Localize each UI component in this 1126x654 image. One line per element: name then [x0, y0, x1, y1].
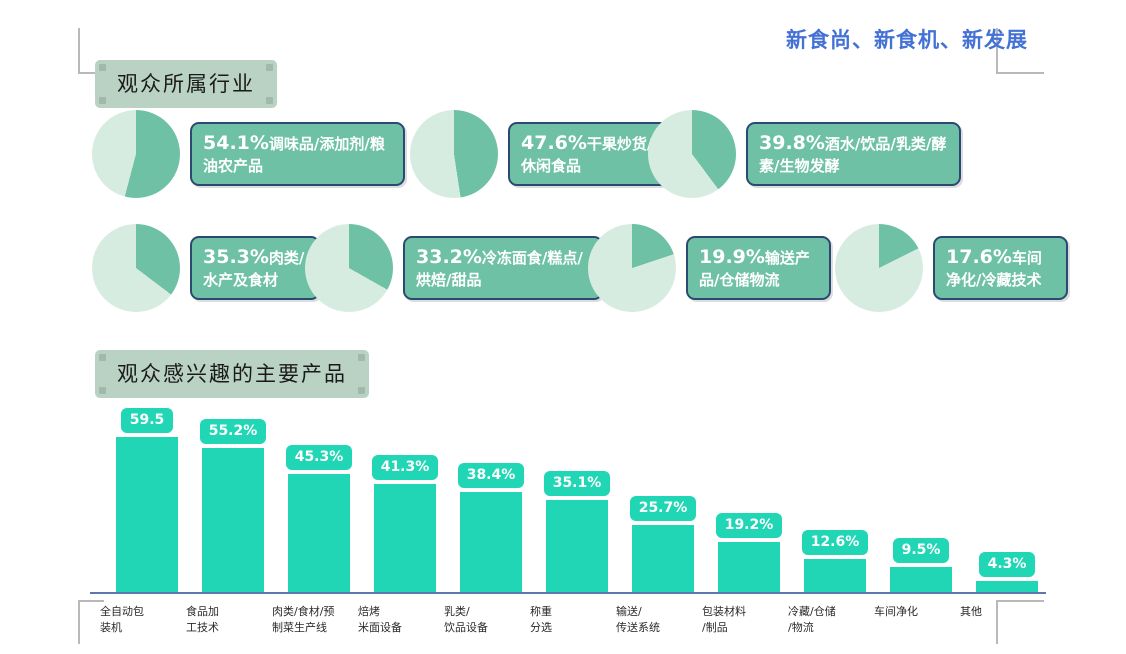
x-axis-label: 焙烤米面设备: [358, 604, 454, 636]
bar: [976, 581, 1038, 592]
pie-chart-4: [92, 224, 180, 312]
slide-canvas: 新食尚、新食机、新发展 观众所属行业 54.1%调味品/添加剂/粮油农产品47.…: [0, 0, 1126, 654]
pie-row-1: 54.1%调味品/添加剂/粮油农产品47.6%干果炒货/休闲食品39.8%酒水/…: [0, 110, 1126, 210]
bar-value-label: 55.2%: [200, 419, 267, 444]
pie-chart-6: [588, 224, 676, 312]
bar: [460, 492, 522, 592]
page-title: 新食尚、新食机、新发展: [786, 24, 1028, 54]
pie-percent-value: 19.9%: [699, 246, 765, 268]
x-axis-label: 包装材料/制品: [702, 604, 798, 636]
bar-column: 38.4%: [448, 463, 534, 592]
header-nub: [358, 354, 365, 361]
pie-chart-7: [835, 224, 923, 312]
x-axis-label: 冷藏/仓储/物流: [788, 604, 884, 636]
pie-item: 33.2%冷冻面食/糕点/烘焙/甜品: [305, 224, 603, 312]
bar-value-label: 45.3%: [286, 445, 353, 470]
header-nub: [99, 387, 106, 394]
bar: [890, 567, 952, 592]
pie-percent-value: 17.6%: [946, 246, 1012, 268]
pie-label-5: 33.2%冷冻面食/糕点/烘焙/甜品: [403, 236, 603, 301]
bar-column: 4.3%: [964, 552, 1050, 592]
pie-label-6: 19.9%输送产品/仓储物流: [686, 236, 831, 301]
x-axis-label: 称重分选: [530, 604, 626, 636]
pie-percent-value: 54.1%: [203, 132, 269, 154]
pie-chart-2: [410, 110, 498, 198]
pie-label-7: 17.6%车间净化/冷藏技术: [933, 236, 1068, 301]
section-header-products: 观众感兴趣的主要产品: [95, 350, 369, 398]
bar: [718, 542, 780, 592]
pie-item: 17.6%车间净化/冷藏技术: [835, 224, 1068, 312]
pie-item: 19.9%输送产品/仓储物流: [588, 224, 831, 312]
pie-row-2: 35.3%肉类/水产及食材33.2%冷冻面食/糕点/烘焙/甜品19.9%输送产品…: [0, 224, 1126, 324]
x-axis-labels: 全自动包装机食品加工技术肉类/食材/预制菜生产线焙烤米面设备乳类/饮品设备称重分…: [90, 600, 1050, 654]
section-header-industry: 观众所属行业: [95, 60, 277, 108]
bar-value-label: 12.6%: [802, 530, 869, 555]
bar: [804, 559, 866, 592]
bar-value-label: 4.3%: [979, 552, 1036, 577]
pie-label-4: 35.3%肉类/水产及食材: [190, 236, 320, 301]
bar-value-label: 59.5: [121, 408, 174, 433]
header-nub: [266, 64, 273, 71]
x-axis-line: [90, 592, 1046, 594]
x-axis-label: 车间净化: [874, 604, 970, 620]
pie-percent-value: 33.2%: [416, 246, 482, 268]
x-axis-label: 输送/传送系统: [616, 604, 712, 636]
x-axis-label: 全自动包装机: [100, 604, 196, 636]
x-axis-label: 食品加工技术: [186, 604, 282, 636]
bar-column: 19.2%: [706, 513, 792, 592]
bar-value-label: 9.5%: [893, 538, 950, 563]
bar-column: 55.2%: [190, 419, 276, 592]
section-header-industry-label: 观众所属行业: [117, 72, 255, 96]
bar-column: 25.7%: [620, 496, 706, 592]
bar: [202, 448, 264, 592]
bar-value-label: 38.4%: [458, 463, 525, 488]
pie-item: 35.3%肉类/水产及食材: [92, 224, 320, 312]
x-axis-label: 乳类/饮品设备: [444, 604, 540, 636]
bar-value-label: 41.3%: [372, 455, 439, 480]
pie-label-3: 39.8%酒水/饮品/乳类/酵素/生物发酵: [746, 122, 961, 187]
bar-plot-area: 59.555.2%45.3%41.3%38.4%35.1%25.7%19.2%1…: [90, 398, 1050, 594]
pie-percent-value: 35.3%: [203, 246, 269, 268]
pie-item: 54.1%调味品/添加剂/粮油农产品: [92, 110, 405, 198]
header-nub: [99, 64, 106, 71]
bar-column: 41.3%: [362, 455, 448, 592]
bar-chart: 59.555.2%45.3%41.3%38.4%35.1%25.7%19.2%1…: [90, 398, 1050, 648]
header-nub: [358, 387, 365, 394]
pie-chart-1: [92, 110, 180, 198]
bar: [116, 437, 178, 592]
bar-column: 9.5%: [878, 538, 964, 592]
x-axis-label: 肉类/食材/预制菜生产线: [272, 604, 368, 636]
header-nub: [99, 97, 106, 104]
section-header-products-label: 观众感兴趣的主要产品: [117, 362, 347, 386]
header-nub: [99, 354, 106, 361]
pie-label-1: 54.1%调味品/添加剂/粮油农产品: [190, 122, 405, 187]
bar: [546, 500, 608, 592]
bar-column: 59.5: [104, 408, 190, 592]
pie-item: 39.8%酒水/饮品/乳类/酵素/生物发酵: [648, 110, 961, 198]
pie-chart-5: [305, 224, 393, 312]
bar: [632, 525, 694, 592]
pie-percent-value: 39.8%: [759, 132, 825, 154]
bar: [288, 474, 350, 592]
bar-column: 12.6%: [792, 530, 878, 592]
pie-percent-value: 47.6%: [521, 132, 587, 154]
bar-value-label: 35.1%: [544, 471, 611, 496]
pie-item: 47.6%干果炒货/休闲食品: [410, 110, 678, 198]
pie-chart-3: [648, 110, 736, 198]
x-axis-label: 其他: [960, 604, 1056, 620]
bar-value-label: 25.7%: [630, 496, 697, 521]
bar: [374, 484, 436, 592]
bar-value-label: 19.2%: [716, 513, 783, 538]
bar-column: 35.1%: [534, 471, 620, 592]
bar-column: 45.3%: [276, 445, 362, 592]
header-nub: [266, 97, 273, 104]
